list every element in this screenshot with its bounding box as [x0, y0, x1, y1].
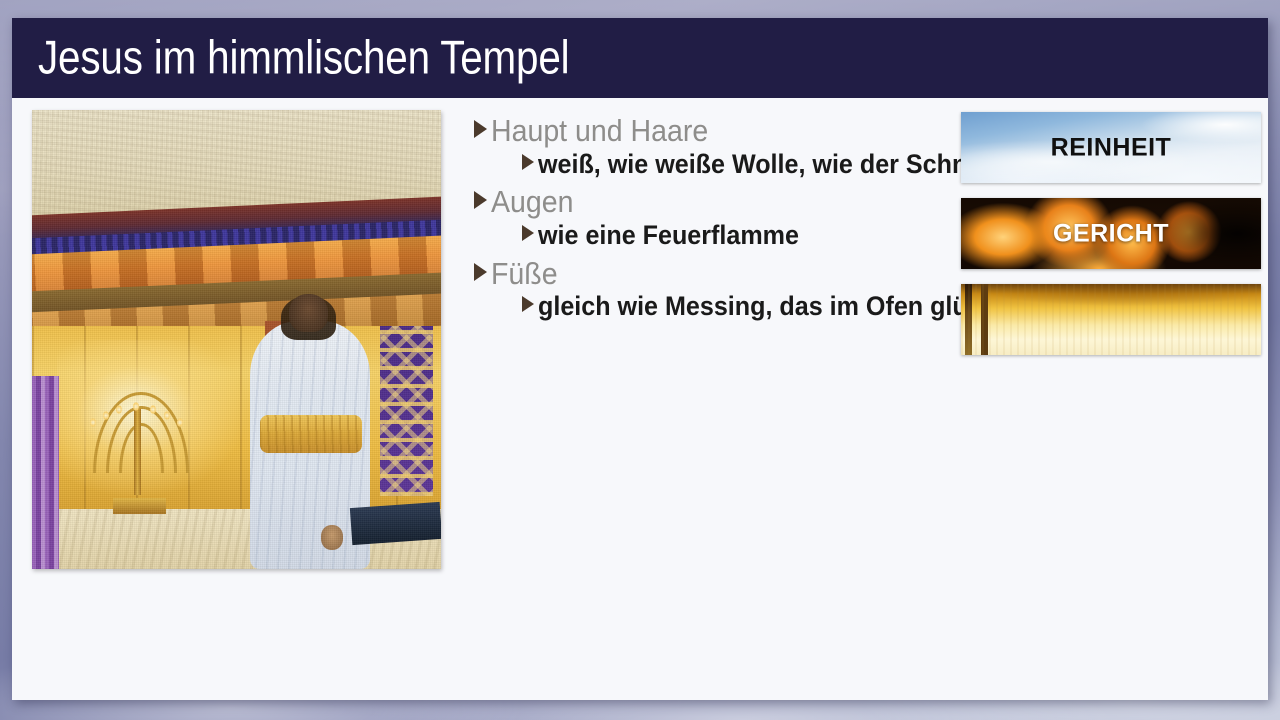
menorah-stem [134, 409, 141, 495]
card-reinheit: REINHEIT [961, 112, 1261, 183]
menorah-base [113, 498, 166, 514]
temple-scene [32, 110, 441, 569]
card-label: REINHEIT [961, 133, 1261, 162]
presentation-stage: Jesus im himmlischen Tempel [0, 0, 1280, 720]
card-ofen [961, 284, 1261, 355]
concept-cards: REINHEIT GERICHT [961, 112, 1261, 370]
bullet-text: weiß, wie weiße Wolle, wie der Schnee [538, 148, 995, 181]
bullet-text: wie eine Feuerflamme [538, 219, 799, 252]
bullet-text: Füße [491, 255, 558, 293]
bullet-text: Haupt und Haare [491, 112, 708, 150]
triangle-right-icon [522, 225, 534, 241]
card-label: GERICHT [961, 219, 1261, 248]
purple-curtain-left [32, 376, 59, 569]
card-gericht: GERICHT [961, 198, 1261, 269]
bullet-text: Augen [491, 183, 573, 221]
hand [321, 525, 343, 550]
list-item: Füße [474, 255, 974, 293]
triangle-right-icon [522, 296, 534, 312]
menorah-flame [116, 405, 122, 414]
slide-panel: Jesus im himmlischen Tempel [12, 18, 1268, 700]
menorah-flame [164, 411, 170, 420]
list-item: Augen [474, 183, 974, 221]
triangle-right-icon [474, 120, 487, 138]
dark-table [350, 502, 441, 545]
list-item: weiß, wie weiße Wolle, wie der Schnee [522, 148, 974, 181]
slide-title-bar: Jesus im himmlischen Tempel [12, 18, 1268, 98]
list-item: Haupt und Haare [474, 112, 974, 150]
temple-photo [32, 110, 441, 569]
triangle-right-icon [522, 154, 534, 170]
triangle-right-icon [474, 263, 487, 281]
bullet-list: Haupt und Haare weiß, wie weiße Wolle, w… [474, 110, 974, 324]
bullet-text: gleich wie Messing, das im Ofen glüht [538, 290, 991, 323]
menorah-icon [89, 395, 187, 514]
list-item: gleich wie Messing, das im Ofen glüht [522, 290, 974, 323]
menorah-flame [177, 418, 183, 427]
head [289, 294, 328, 333]
triangle-right-icon [474, 191, 487, 209]
glowing-furnace-image [961, 284, 1261, 355]
page-title: Jesus im himmlischen Tempel [38, 29, 569, 84]
list-item: wie eine Feuerflamme [522, 219, 974, 252]
menorah-flame [90, 418, 96, 427]
purple-gold-curtain [380, 326, 433, 496]
golden-sash [260, 415, 362, 454]
